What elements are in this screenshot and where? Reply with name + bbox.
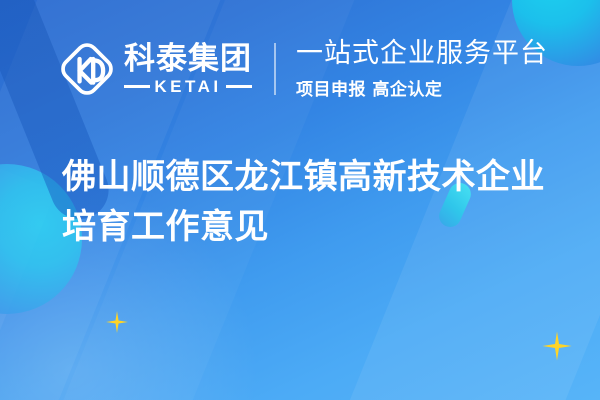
logo-company-name-en: KETAI [150,78,225,95]
slogan-secondary: 项目申报 高企认定 [296,75,548,100]
page-title: 佛山顺德区龙江镇高新技术企业培育工作意见 [62,152,560,253]
ketai-diamond-kd-monogram-icon [56,38,118,100]
header-divider [274,43,276,95]
slogan-primary: 一站式企业服务平台 [296,38,548,70]
logo-company-name-cn: 科泰集团 [124,44,252,75]
logo-wordmark: 科泰集团 KETAI [124,44,252,95]
logo-english-row: KETAI [124,78,252,95]
brand-logo: 科泰集团 KETAI [56,38,252,100]
sparkle-icon [105,310,129,334]
logo-dash-left [124,85,150,88]
banner-header: 科泰集团 KETAI 一站式企业服务平台 项目申报 高企认定 [56,34,548,104]
promo-banner: 科泰集团 KETAI 一站式企业服务平台 项目申报 高企认定 佛山顺德区龙江镇高… [0,0,600,400]
slogan-block: 一站式企业服务平台 项目申报 高企认定 [296,38,548,100]
sparkle-icon [541,330,573,362]
logo-dash-right [226,85,252,88]
